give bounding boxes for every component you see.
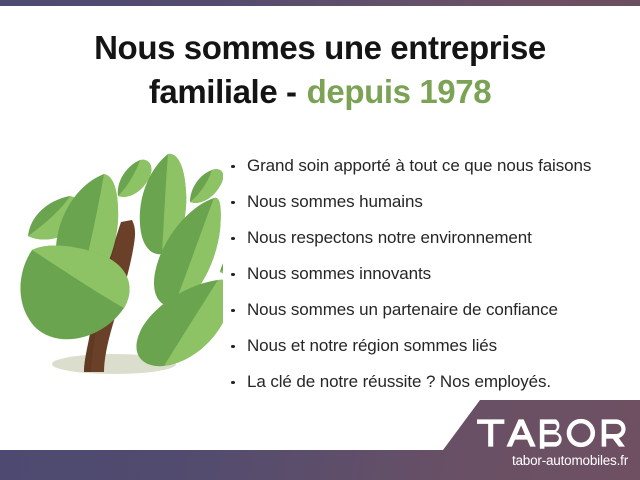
list-item-label: Nous sommes humains (247, 192, 423, 211)
headline-line-1: Nous sommes une entreprise (0, 26, 640, 70)
list-item-label: Nous et notre région sommes liés (247, 336, 497, 355)
list-item: Nous sommes humains (228, 184, 624, 220)
list-item-label: La clé de notre réussite ? Nos employés. (247, 372, 551, 391)
list-item-label: Grand soin apporté à tout ce que nous fa… (247, 156, 591, 175)
list-item-label: Nous sommes un partenaire de confiance (247, 300, 558, 319)
bullet-dot-icon (231, 273, 235, 277)
brand-domain-label: tabor-automobiles.fr (458, 453, 628, 468)
top-accent-strip (0, 0, 640, 6)
slide-canvas: Nous sommes une entreprise familiale -de… (0, 0, 640, 480)
bullet-dot-icon (231, 309, 235, 313)
list-item: Nous respectons notre environnement (228, 220, 624, 256)
leaf-top-right-small (190, 169, 223, 203)
headline-line-2-main: familiale - (149, 73, 297, 110)
list-item: Nous sommes un partenaire de confiance (228, 292, 624, 328)
list-item: Grand soin apporté à tout ce que nous fa… (228, 148, 624, 184)
tabor-wordmark-icon (476, 415, 628, 451)
bullet-dot-icon (231, 237, 235, 241)
leaf-right-small (220, 230, 223, 275)
bullet-dot-icon (231, 381, 235, 385)
headline-line-2: familiale -depuis 1978 (0, 70, 640, 114)
list-item: Nous et notre région sommes liés (228, 328, 624, 364)
list-item: Nous sommes innovants (228, 256, 624, 292)
bullet-dot-icon (231, 165, 235, 169)
list-item: La clé de notre réussite ? Nos employés. (228, 364, 624, 400)
bullet-dot-icon (231, 345, 235, 349)
headline-accent-year: depuis 1978 (307, 73, 492, 110)
brand-logo: tabor-automobiles.fr (458, 415, 628, 468)
list-item-label: Nous respectons notre environnement (247, 228, 532, 247)
family-tree-icon (8, 148, 223, 390)
page-title: Nous sommes une entreprise familiale -de… (0, 26, 640, 114)
bullet-dot-icon (231, 201, 235, 205)
list-item-label: Nous sommes innovants (247, 264, 431, 283)
value-bullet-list: Grand soin apporté à tout ce que nous fa… (228, 148, 624, 400)
